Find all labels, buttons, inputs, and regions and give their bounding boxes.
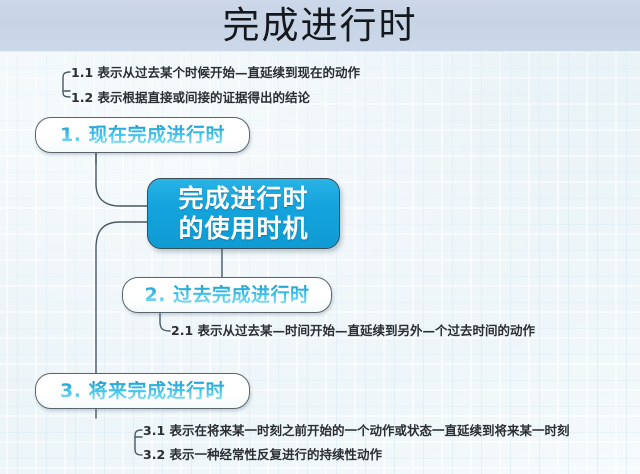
node-center-line1: 完成进行时 [178, 184, 308, 214]
node-present-perfect-continuous[interactable]: 1. 现在完成进行时 [35, 117, 250, 153]
node-future-perfect-continuous[interactable]: 3. 将来完成进行时 [35, 373, 250, 409]
page-title: 完成进行时 [0, 1, 640, 51]
node-future-label: 3. 将来完成进行时 [60, 381, 225, 402]
node-past-label: 2. 过去完成进行时 [144, 285, 309, 306]
node-past-perfect-continuous[interactable]: 2. 过去完成进行时 [122, 277, 332, 313]
node-center-topic[interactable]: 完成进行时 的使用时机 [147, 178, 340, 249]
slide-root: 完成进行时 1.1 表示从过去某个时候开始—直 [0, 0, 640, 474]
node-present-label: 1. 现在完成进行时 [60, 125, 225, 146]
node-center-line2: 的使用时机 [178, 214, 308, 244]
detail-1-1: 1.1 表示从过去某个时候开始—直延续到现在的动作 [71, 64, 360, 82]
detail-3-2: 3.2 表示一种经常性反复进行的持续性动作 [143, 446, 382, 464]
detail-2-1: 2.1 表示从过去某—时间开始—直延续到另外—个过去时间的动作 [171, 322, 535, 340]
canvas-texture-overlay [0, 52, 640, 474]
title-banner: 完成进行时 [0, 0, 640, 52]
detail-3-1: 3.1 表示在将来某一时刻之前开始的一个动作或状态一直延续到将来某一时刻 [143, 422, 570, 440]
slide-canvas [0, 52, 640, 474]
detail-1-2: 1.2 表示根据直接或间接的证据得出的结论 [71, 89, 310, 107]
